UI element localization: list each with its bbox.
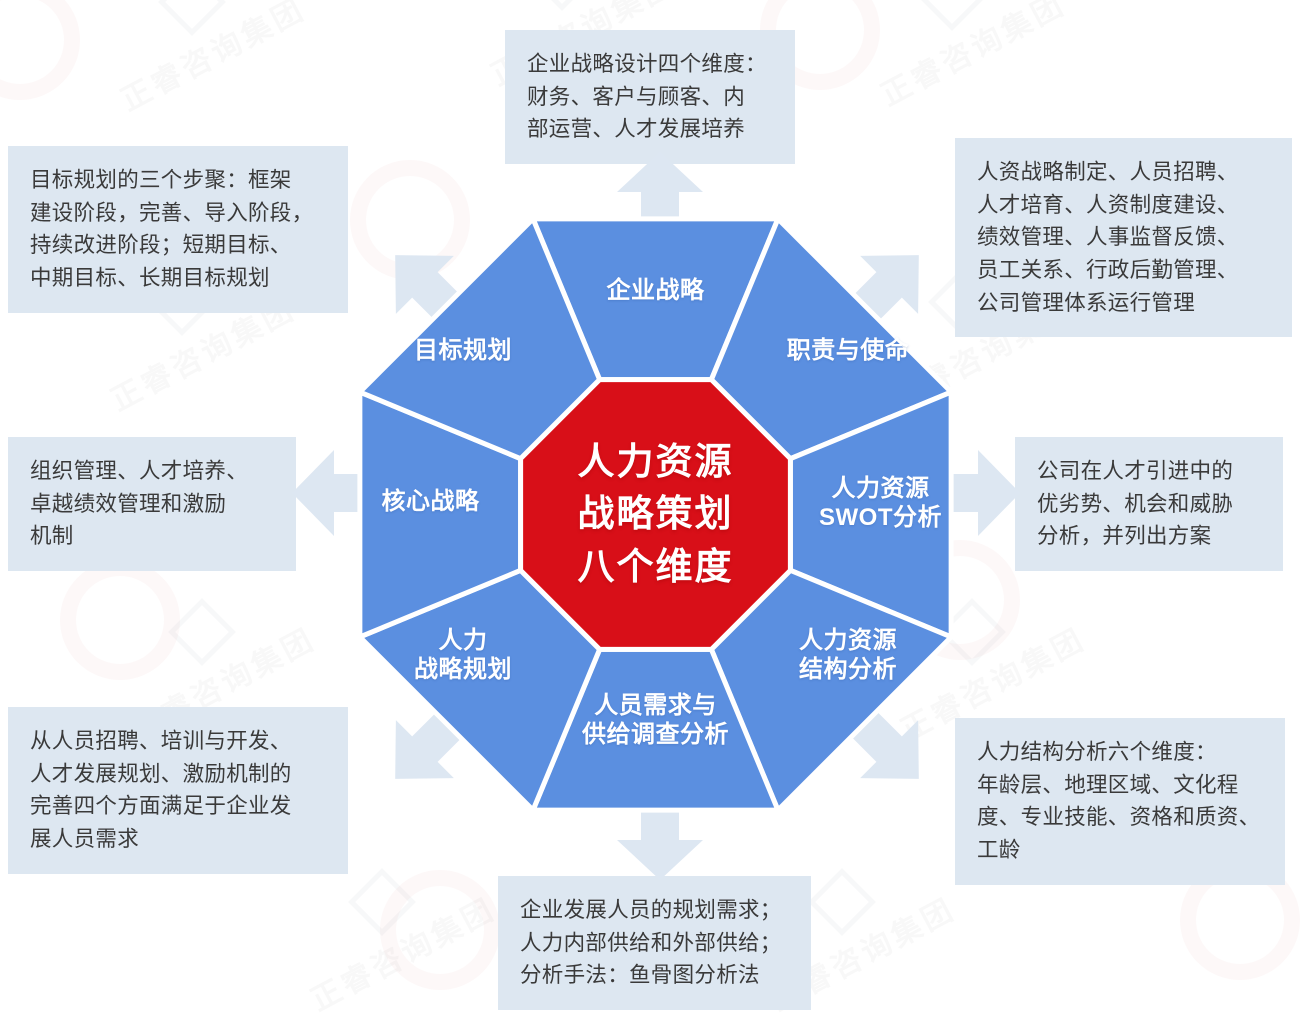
watermark-text: 正睿咨询集团 xyxy=(112,0,313,119)
watermark-ring-icon xyxy=(60,560,180,680)
callout-hr-strategy-plan: 从人员招聘、培训与开发、 人才发展规划、激励机制的 完善四个方面满足于企业发 展… xyxy=(8,707,348,874)
callout-hr-structure: 人力结构分析六个维度： 年龄层、地理区域、文化程 度、专业技能、资格和质资、 工… xyxy=(955,718,1285,885)
watermark-text: 正睿咨询集团 xyxy=(872,0,1073,114)
watermark-diamond-icon xyxy=(348,868,416,936)
watermark-diamond-icon xyxy=(158,0,226,36)
octagon-segments xyxy=(333,192,978,837)
watermark-diamond-icon xyxy=(808,868,876,936)
callout-demand-supply: 企业发展人员的规划需求； 人力内部供给和外部供给； 分析手法：鱼骨图分析法 xyxy=(498,876,811,1010)
watermark-text: 正睿咨询集团 xyxy=(302,885,503,1018)
callout-enterprise-strategy: 企业战略设计四个维度： 财务、客户与顾客、内 部运营、人才发展培养 xyxy=(505,30,795,164)
watermark-diamond-icon xyxy=(528,0,596,11)
callout-hr-swot: 公司在人才引进中的 优劣势、机会和威胁 分析，并列出方案 xyxy=(1015,437,1283,571)
center-octagon xyxy=(521,380,791,650)
octagon-diagram: 企业战略 职责与使命 人力资源 SWOT分析 人力资源 结构分析 人员需求与 供… xyxy=(333,192,978,837)
callout-goal-planning: 目标规划的三个步聚：框架 建设阶段，完善、导入阶段， 持续改进阶段；短期目标、 … xyxy=(8,146,348,313)
callout-duty-mission: 人资战略制定、人员招聘、 人才培育、人资制度建设、 绩效管理、人事监督反馈、 员… xyxy=(955,138,1292,337)
callout-core-strategy: 组织管理、人才培养、 卓越绩效管理和激励 机制 xyxy=(8,437,296,571)
diagram-canvas: 正睿咨询集团正睿咨询集团正睿咨询集团正睿咨询集团正睿咨询集团正睿咨询集团正睿咨询… xyxy=(0,0,1300,1018)
watermark-diamond-icon xyxy=(918,0,986,31)
watermark-ring-icon xyxy=(0,0,80,100)
watermark-diamond-icon xyxy=(168,598,236,666)
watermark-ring-icon xyxy=(380,870,500,990)
